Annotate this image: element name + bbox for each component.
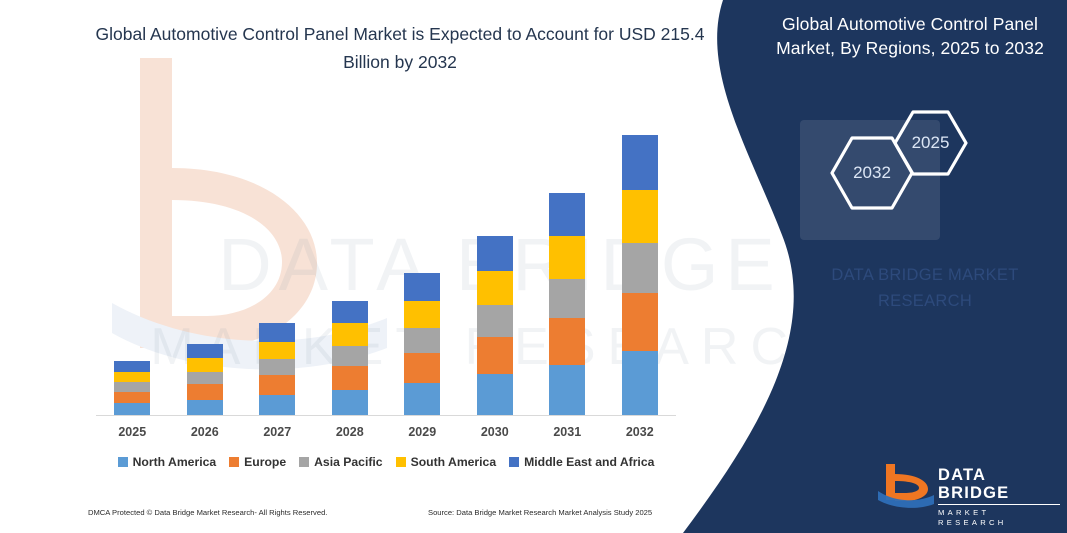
panel-watermark-line-2: RESEARCH — [878, 292, 972, 310]
panel-watermark-text: DATA BRIDGE MARKET RESEARCH — [800, 262, 1050, 314]
bar-segment — [549, 279, 585, 319]
bar-segment — [187, 372, 223, 385]
x-axis-label-2025: 2025 — [102, 425, 162, 439]
legend-swatch-icon — [299, 457, 309, 467]
bar-segment — [187, 384, 223, 399]
bar-2032 — [622, 135, 658, 416]
bar-2029 — [404, 273, 440, 416]
bar-segment — [259, 375, 295, 394]
bar-segment — [404, 301, 440, 328]
bar-segment — [622, 135, 658, 190]
legend-label: South America — [411, 455, 497, 469]
bar-2025 — [114, 361, 150, 416]
bar-segment — [114, 372, 150, 383]
x-axis-label-2032: 2032 — [610, 425, 670, 439]
legend-swatch-icon — [396, 457, 406, 467]
infographic-root: DATA BRIDGE MARKET RESEARCH Global Autom… — [0, 0, 1067, 533]
bar-segment — [259, 342, 295, 359]
bar-segment — [477, 271, 513, 305]
legend-item-middle-east-and-africa[interactable]: Middle East and Africa — [509, 455, 654, 469]
legend-label: North America — [133, 455, 217, 469]
bar-segment — [187, 358, 223, 372]
bar-segment — [187, 400, 223, 416]
legend-item-europe[interactable]: Europe — [229, 455, 286, 469]
bar-segment — [259, 359, 295, 375]
legend-label: Asia Pacific — [314, 455, 382, 469]
footer: DMCA Protected © Data Bridge Market Rese… — [0, 508, 700, 524]
legend-item-south-america[interactable]: South America — [396, 455, 497, 469]
bar-segment — [477, 236, 513, 271]
hexagon-2032: 2032 — [832, 138, 912, 208]
panel-watermark-line-1: DATA BRIDGE MARKET — [831, 266, 1018, 284]
legend-label: Europe — [244, 455, 286, 469]
bar-segment — [332, 346, 368, 366]
logo-primary-text: DATA BRIDGE — [938, 466, 1060, 505]
stacked-bar-chart — [96, 60, 676, 416]
bar-2028 — [332, 301, 368, 416]
bar-segment — [114, 361, 150, 372]
bar-segment — [477, 305, 513, 337]
bar-segment — [404, 273, 440, 301]
bar-2027 — [259, 323, 295, 416]
x-axis-label-2031: 2031 — [537, 425, 597, 439]
bar-segment — [477, 337, 513, 375]
bar-segment — [622, 351, 658, 416]
legend-swatch-icon — [118, 457, 128, 467]
bar-segment — [549, 318, 585, 364]
bar-segment — [404, 383, 440, 416]
x-axis-labels: 20252026202720282029203020312032 — [96, 425, 676, 445]
bar-2026 — [187, 344, 223, 416]
bar-segment — [404, 353, 440, 383]
bar-segment — [332, 390, 368, 416]
x-axis-label-2026: 2026 — [175, 425, 235, 439]
company-logo: DATA BRIDGE MARKET RESEARCH — [878, 462, 1060, 508]
legend-swatch-icon — [229, 457, 239, 467]
bar-segment — [404, 328, 440, 353]
bar-2030 — [477, 236, 513, 416]
bar-segment — [549, 236, 585, 278]
legend-label: Middle East and Africa — [524, 455, 654, 469]
bar-segment — [259, 323, 295, 341]
hexagon-badges: 2025 2032 — [820, 90, 1040, 220]
bar-segment — [549, 365, 585, 416]
footer-copyright: DMCA Protected © Data Bridge Market Rese… — [88, 508, 327, 517]
bar-segment — [259, 395, 295, 416]
footer-source: Source: Data Bridge Market Research Mark… — [428, 508, 652, 517]
bar-segment — [332, 366, 368, 390]
bar-segment — [477, 374, 513, 416]
x-axis-label-2028: 2028 — [320, 425, 380, 439]
x-axis-line — [96, 415, 676, 416]
bar-segment — [114, 392, 150, 404]
logo-text: DATA BRIDGE MARKET RESEARCH — [938, 466, 1060, 528]
bar-segment — [332, 301, 368, 323]
bar-segment — [187, 344, 223, 358]
chart-legend: North AmericaEuropeAsia PacificSouth Ame… — [96, 455, 676, 469]
bar-segment — [549, 193, 585, 236]
bar-segment — [114, 382, 150, 392]
bar-segment — [332, 323, 368, 345]
x-axis-label-2029: 2029 — [392, 425, 452, 439]
bar-2031 — [549, 193, 585, 416]
legend-item-asia-pacific[interactable]: Asia Pacific — [299, 455, 382, 469]
x-axis-label-2027: 2027 — [247, 425, 307, 439]
x-axis-label-2030: 2030 — [465, 425, 525, 439]
bar-segment — [622, 190, 658, 243]
hexagon-2032-label: 2032 — [853, 163, 891, 183]
logo-secondary-text: MARKET RESEARCH — [938, 508, 1060, 528]
bar-segment — [622, 293, 658, 351]
hexagon-2025-label: 2025 — [912, 133, 950, 153]
bar-segment — [622, 243, 658, 293]
legend-item-north-america[interactable]: North America — [118, 455, 217, 469]
panel-title: Global Automotive Control Panel Market, … — [760, 12, 1060, 60]
legend-swatch-icon — [509, 457, 519, 467]
